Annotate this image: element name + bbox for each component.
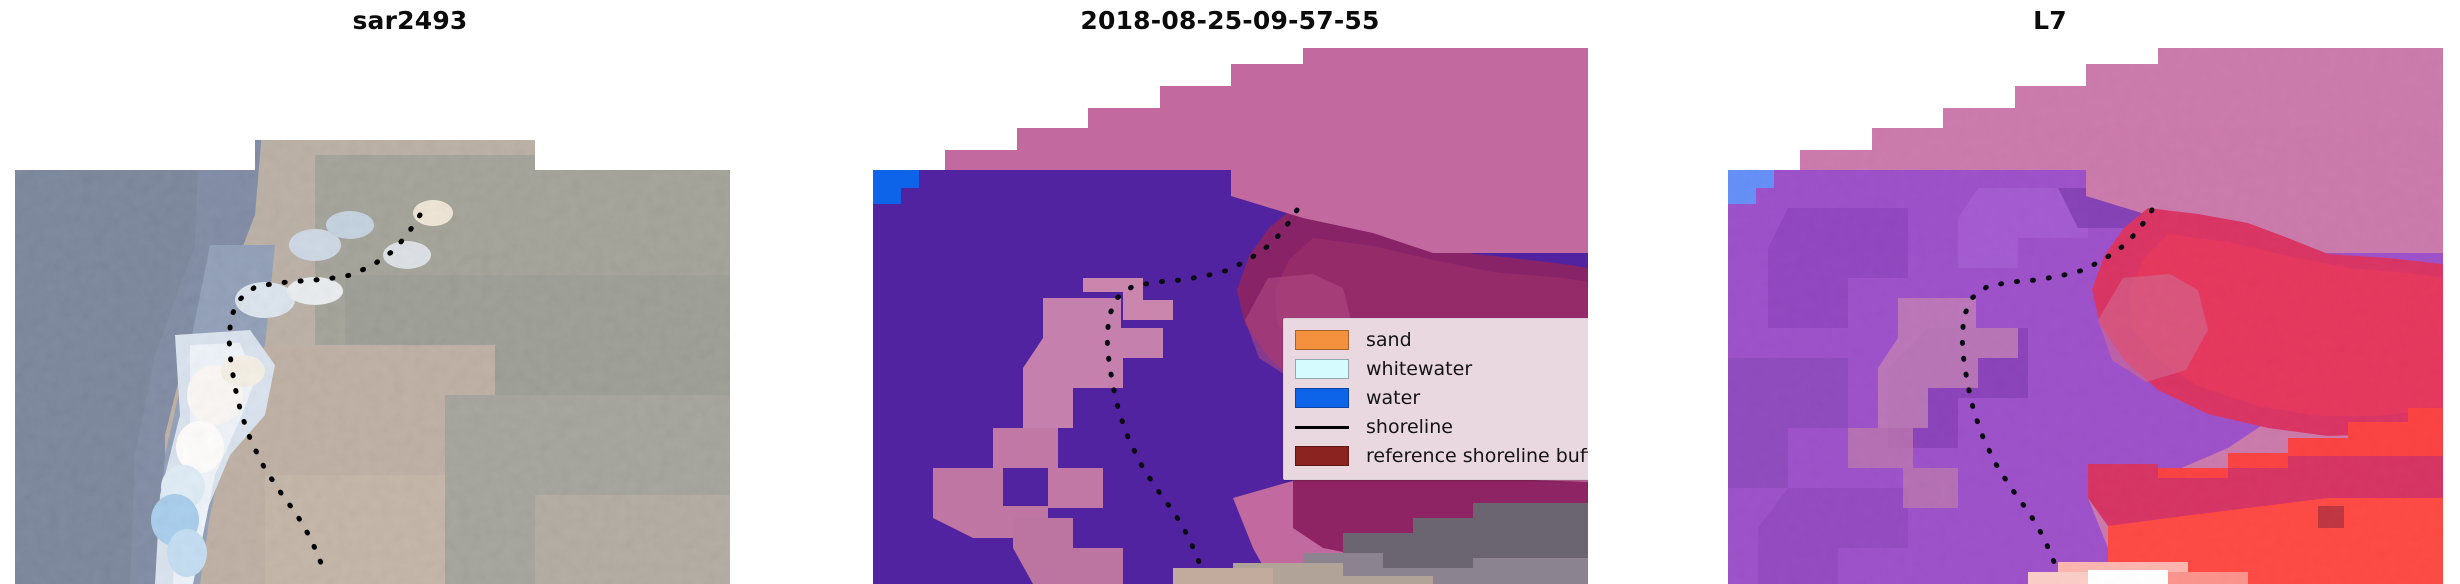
sand-swatch [1295,330,1349,350]
panel-2-axes: sand whitewater water shoreline referenc… [873,28,1588,584]
reference-shoreline-buffer-swatch [1295,446,1349,466]
legend-label-water: water [1366,387,1420,409]
legend-item-whitewater: whitewater [1284,354,1588,383]
figure-canvas: sar2493 [0,0,2460,584]
legend-item-shoreline: shoreline [1284,412,1588,441]
panel-classification: 2018-08-25-09-57-55 [820,0,1640,584]
whitewater-swatch [1295,359,1349,379]
rgb-satellite-raster [15,95,730,584]
legend-label-sand: sand [1366,329,1412,351]
water-swatch [1295,388,1349,408]
legend-label-reference-shoreline-buffer: reference shoreline buffer [1366,445,1588,467]
panel-3-axes [1728,28,2443,584]
panel-1-axes [15,95,730,584]
panel-1-title: sar2493 [0,4,820,38]
shoreline-line-swatch [1295,417,1349,437]
legend-label-shoreline: shoreline [1366,416,1453,438]
panel-sar2493: sar2493 [0,0,820,584]
l7-index-raster [1728,28,2443,584]
classification-raster [873,28,1588,584]
panel-l7: L7 [1640,0,2460,584]
legend-label-whitewater: whitewater [1366,358,1472,380]
legend-item-reference-shoreline-buffer: reference shoreline buffer [1284,441,1588,470]
legend-item-sand: sand [1284,325,1588,354]
legend-item-water: water [1284,383,1588,412]
legend-box: sand whitewater water shoreline referenc… [1283,318,1588,480]
